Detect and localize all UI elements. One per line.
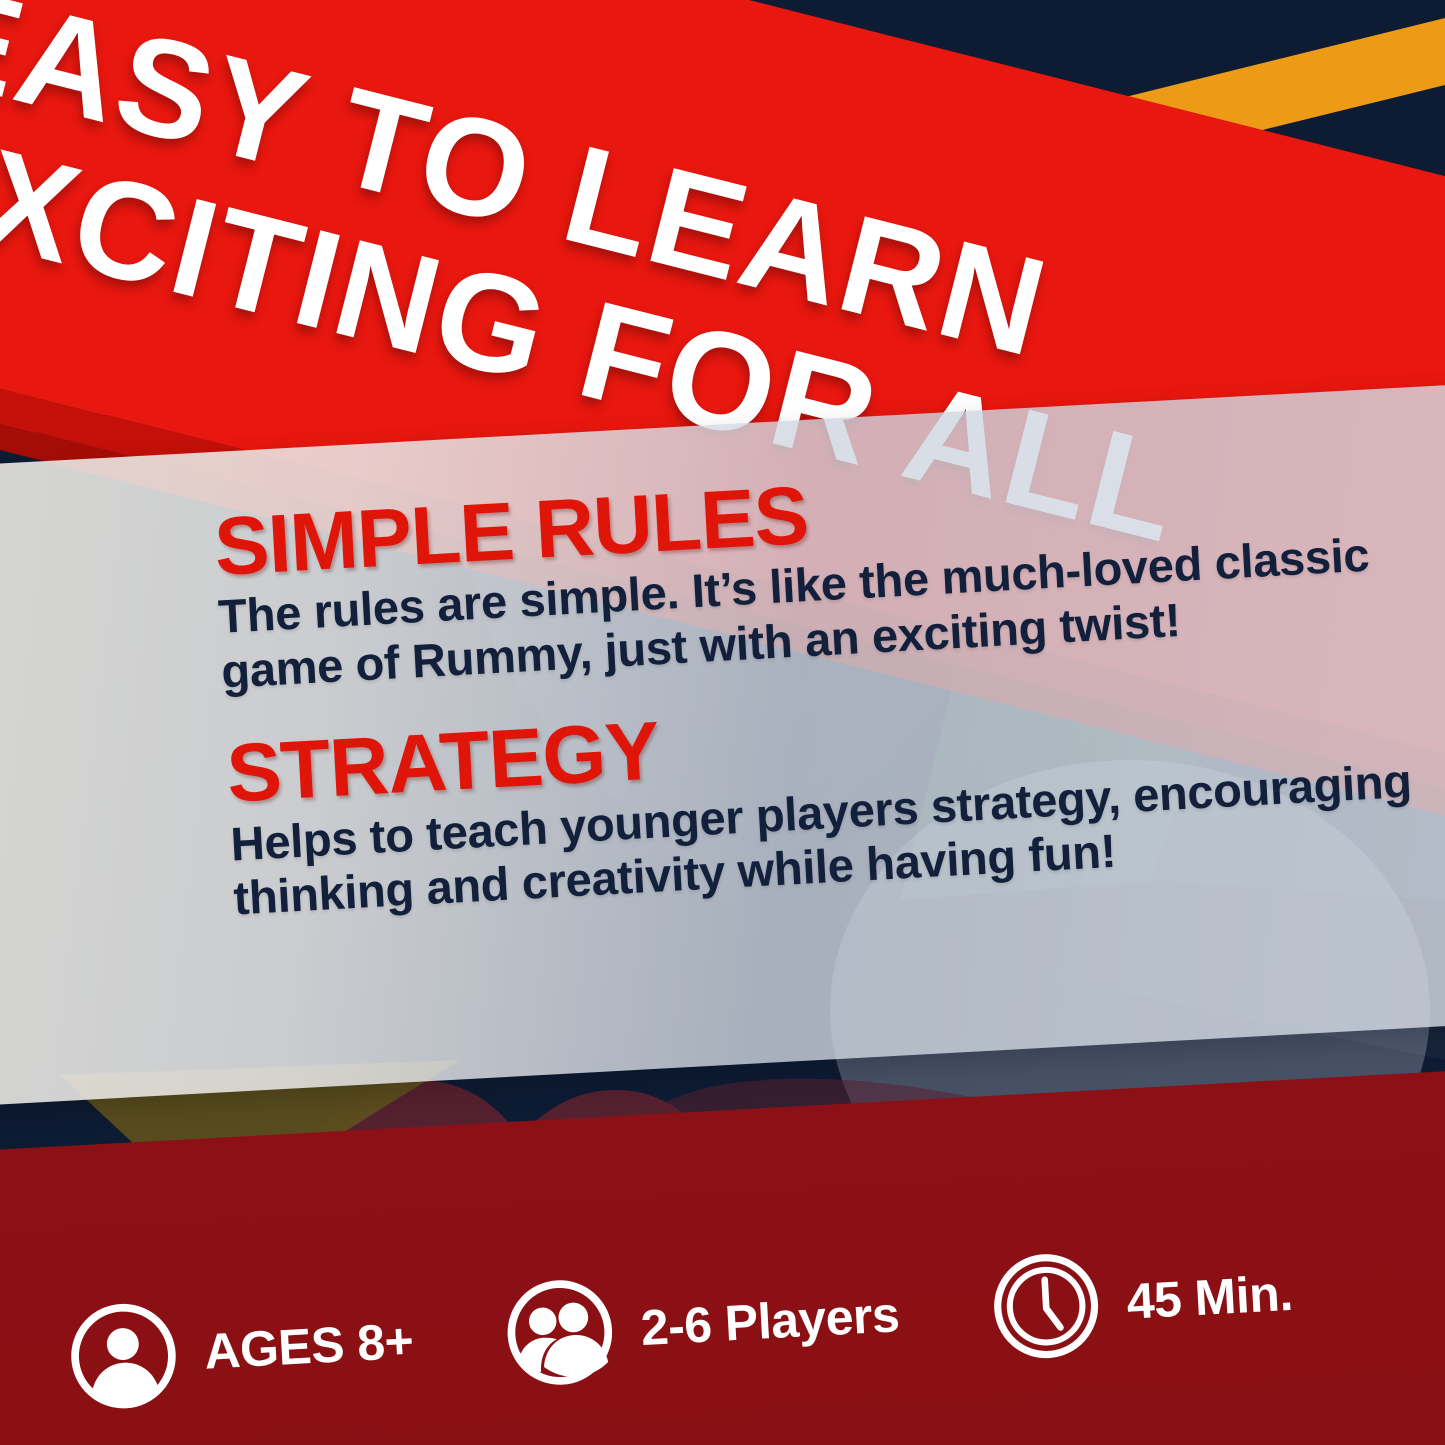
- spec-bar-items: AGES 8+ 2-6 Players 45 Min.: [66, 1238, 1296, 1414]
- spec-label-players: 2-6 Players: [639, 1285, 900, 1357]
- person-icon: [66, 1298, 182, 1414]
- spec-label-duration: 45 Min.: [1125, 1264, 1294, 1331]
- spec-label-ages: AGES 8+: [203, 1311, 415, 1380]
- promo-graphic: EASY TO LEARN EXCITING FOR ALL SIMPLE RU…: [0, 0, 1445, 1445]
- info-panel: SIMPLE RULES The rules are simple. It’s …: [0, 377, 1445, 1109]
- group-icon: [502, 1275, 618, 1391]
- info-panel-content: SIMPLE RULES The rules are simple. It’s …: [213, 440, 1445, 926]
- spec-item-players: 2-6 Players: [502, 1259, 902, 1390]
- clock-icon: [988, 1248, 1104, 1364]
- spec-item-duration: 45 Min.: [988, 1238, 1295, 1364]
- spec-item-ages: AGES 8+: [66, 1286, 417, 1415]
